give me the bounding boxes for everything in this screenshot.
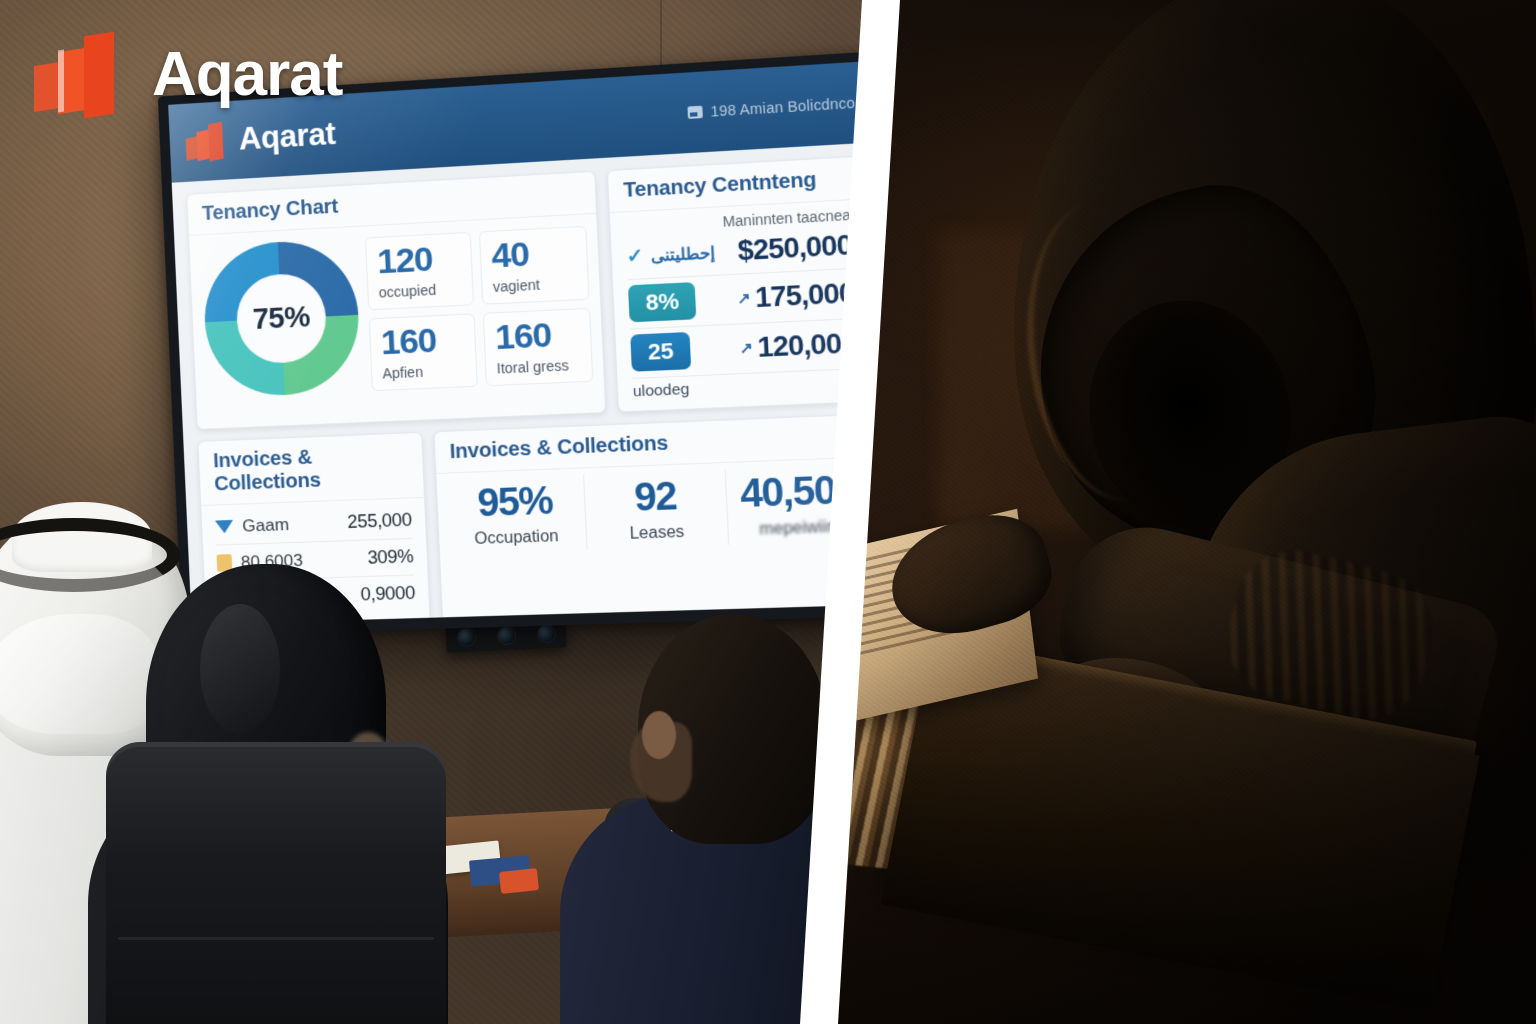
desk-phone <box>499 868 539 894</box>
camera-lens-icon <box>457 628 475 646</box>
collections-stats: 95% Occupation 92 Leases 40,500 mepeiwii… <box>436 457 881 566</box>
dashboard-row-top: Tenancy Chart 75% 120 <box>186 156 876 430</box>
kpi-value: 160 <box>380 322 465 360</box>
tenancy-summary-rows: Maninnten taacnea ✓ إحطليتنى $250,000 <box>610 199 875 411</box>
kpi-tile[interactable]: 120 occupied <box>365 232 474 310</box>
stat-label: Occupation <box>453 527 580 550</box>
status-badge: 25 <box>630 332 691 372</box>
stat-label: Leases <box>593 522 722 545</box>
screenshot-canvas: Aqarat Aqarat 198 Amian Bolicdnco <box>0 0 1536 1024</box>
trend-icon: ↗ <box>737 289 750 308</box>
boardroom-scene: Aqarat Aqarat 198 Amian Bolicdnco <box>0 0 900 1024</box>
office-chair <box>106 742 446 1024</box>
brand-lockup: Aqarat <box>34 32 342 116</box>
check-icon: ✓ <box>626 244 644 269</box>
row-label: إحطليتنى <box>650 242 715 266</box>
trend-icon: ↗ <box>739 338 752 357</box>
tenancy-kpi-grid: 120 occupied 40 vagient 160 <box>365 226 593 392</box>
app-name: Aqarat <box>238 116 336 158</box>
wall-display: Aqarat 198 Amian Bolicdnco Tenancy Chart <box>158 51 900 636</box>
kpi-label: occupied <box>378 280 462 300</box>
kpi-label: Apfien <box>382 362 466 382</box>
collections-title: Invoices & Collections <box>449 424 861 464</box>
aqarat-logo-icon <box>185 121 229 162</box>
row-amount: $250,000 <box>737 229 853 267</box>
tenancy-chart-card[interactable]: Tenancy Chart 75% 120 <box>186 171 606 430</box>
topbar-status-text: 198 Amian Bolicdnco <box>710 94 855 119</box>
status-badge: 8% <box>628 282 697 322</box>
camera-lens-icon <box>497 626 515 644</box>
donut-hole: 75% <box>235 272 328 365</box>
kpi-value: 40 <box>491 235 577 274</box>
stat-tile[interactable]: 92 Leases <box>584 469 729 549</box>
stat-value: 95% <box>451 481 578 524</box>
kpi-label: Itoral gress <box>496 357 581 377</box>
kpi-tile[interactable]: 40 vagient <box>479 226 590 305</box>
tenancy-chart-body: 75% 120 occupied 40 <box>189 214 604 411</box>
row-amount-value: 120,000 <box>757 327 858 364</box>
donut-center-label: 75% <box>252 301 311 337</box>
row-amount: ↗ 120,000 <box>739 327 858 364</box>
kpi-value: 160 <box>494 317 580 356</box>
aqarat-logo-icon <box>34 32 130 116</box>
chair-seam <box>118 937 434 940</box>
topbar-status[interactable]: 198 Amian Bolicdnco <box>688 94 856 121</box>
attendee-hijab <box>88 554 448 1024</box>
row-amount: ↗ 175,000 <box>736 277 855 315</box>
dashboard-body: Tenancy Chart 75% 120 <box>172 142 900 624</box>
app-brand[interactable]: Aqarat <box>185 115 336 162</box>
stat-value: 92 <box>591 476 721 520</box>
tenancy-summary-card[interactable]: Tenancy Centnteng Maninnten taacnea ✓ إح… <box>607 156 876 413</box>
kpi-label: vagient <box>493 275 578 296</box>
dashboard-screen[interactable]: Aqarat 198 Amian Bolicdnco Tenancy Chart <box>168 61 900 625</box>
stat-tile[interactable]: 95% Occupation <box>445 475 588 554</box>
fabric-sheen <box>200 604 280 734</box>
kpi-tile[interactable]: 160 Apfien <box>369 313 478 391</box>
badge-icon <box>688 106 703 119</box>
tenancy-donut-chart[interactable]: 75% <box>202 238 362 398</box>
row-amount-value: 175,000 <box>754 277 855 314</box>
camera-lens-icon <box>537 624 555 642</box>
brand-name: Aqarat <box>152 39 342 110</box>
tenancy-summary-title: Tenancy Centnteng <box>623 167 849 203</box>
row-value: 255,000 <box>347 510 412 534</box>
kpi-tile[interactable]: 160 Itoral gress <box>483 308 594 387</box>
kpi-value: 120 <box>377 241 462 280</box>
ear <box>642 711 676 759</box>
